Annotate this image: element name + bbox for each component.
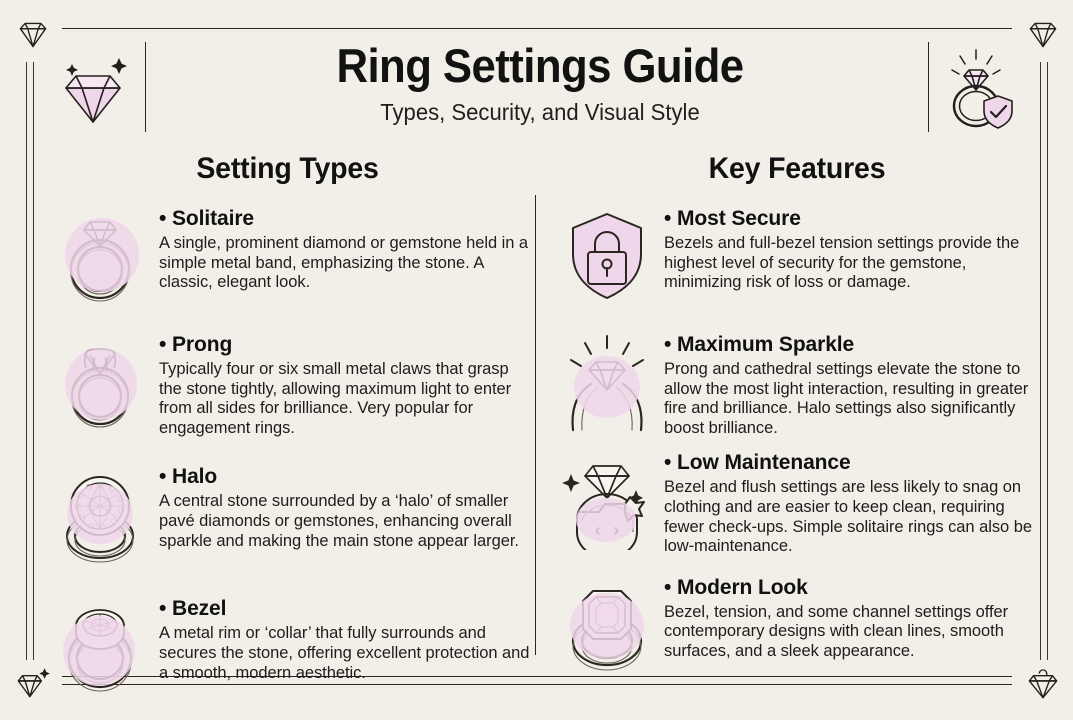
header: Ring Settings Guide Types, Security, and… bbox=[40, 36, 1030, 136]
page-subtitle: Types, Security, and Visual Style bbox=[175, 96, 905, 128]
frame-line-top bbox=[62, 28, 1012, 29]
ring-with-shield-check-icon bbox=[940, 44, 1030, 130]
list-item-text: • Prong Typically four or six small meta… bbox=[155, 328, 530, 438]
column-key-features: Key Features • Most Secure Bezels and fu… bbox=[552, 150, 1042, 679]
list-item-body: Bezel, tension, and some channel setting… bbox=[664, 603, 1042, 662]
list-item-text: • Halo A central stone surrounded by a ‘… bbox=[155, 460, 530, 551]
bullet-glyph: • bbox=[159, 597, 166, 620]
list-item-text: • Bezel A metal rim or ‘collar’ that ful… bbox=[155, 592, 530, 683]
column-setting-types: Setting Types bbox=[45, 150, 530, 706]
bullet-glyph: • bbox=[159, 465, 166, 488]
shield-lock-icon bbox=[552, 202, 662, 310]
solitaire-ring-icon bbox=[45, 202, 155, 310]
bullet-glyph: • bbox=[159, 333, 166, 356]
sparkling-ring-icon bbox=[552, 328, 662, 436]
frame-line-right-outer bbox=[1047, 62, 1048, 660]
list-item: • Bezel A metal rim or ‘collar’ that ful… bbox=[45, 592, 530, 700]
list-item-text: • Low Maintenance Bezel and flush settin… bbox=[662, 446, 1042, 556]
frame-line-left-inner bbox=[33, 62, 34, 660]
list-item: • Most Secure Bezels and full-bezel tens… bbox=[552, 202, 1042, 310]
list-item-title: • Prong bbox=[159, 332, 530, 358]
diamond-gem-sparkle-icon bbox=[48, 44, 138, 130]
frame-line-left-outer bbox=[26, 62, 27, 660]
list-item-title: • Bezel bbox=[159, 596, 530, 622]
bullet-glyph: • bbox=[664, 333, 671, 356]
list-item-body: Bezels and full-bezel tension settings p… bbox=[664, 234, 1042, 293]
bullet-glyph: • bbox=[664, 576, 671, 599]
list-item-title: • Solitaire bbox=[159, 206, 530, 232]
list-item-title: • Low Maintenance bbox=[664, 450, 1042, 476]
infographic-page: Ring Settings Guide Types, Security, and… bbox=[0, 0, 1073, 720]
bullet-glyph: • bbox=[159, 207, 166, 230]
list-item-body: A central stone surrounded by a ‘halo’ o… bbox=[159, 492, 530, 551]
list-item: • Halo A central stone surrounded by a ‘… bbox=[45, 460, 530, 568]
list-item: • Maximum Sparkle Prong and cathedral se… bbox=[552, 328, 1042, 438]
prong-ring-icon bbox=[45, 328, 155, 436]
bezel-ring-icon bbox=[45, 592, 155, 700]
list-item-body: Prong and cathedral settings elevate the… bbox=[664, 360, 1042, 438]
header-titles: Ring Settings Guide Types, Security, and… bbox=[160, 36, 920, 128]
list-item-text: • Solitaire A single, prominent diamond … bbox=[155, 202, 530, 293]
header-divider-right bbox=[928, 42, 929, 132]
list-item-text: • Maximum Sparkle Prong and cathedral se… bbox=[662, 328, 1042, 438]
list-item: • Prong Typically four or six small meta… bbox=[45, 328, 530, 438]
bullet-glyph: • bbox=[664, 207, 671, 230]
list-item-body: Typically four or six small metal claws … bbox=[159, 360, 530, 438]
clean-ring-sparkle-icon bbox=[552, 446, 662, 554]
list-item-text: • Modern Look Bezel, tension, and some c… bbox=[662, 571, 1042, 662]
list-item-text: • Most Secure Bezels and full-bezel tens… bbox=[662, 202, 1042, 293]
list-item-title: • Halo bbox=[159, 464, 530, 490]
list-item-body: A metal rim or ‘collar’ that fully surro… bbox=[159, 624, 530, 683]
halo-ring-icon bbox=[45, 460, 155, 568]
list-item-title: • Most Secure bbox=[664, 206, 1042, 232]
list-item-body: Bezel and flush settings are less likely… bbox=[664, 478, 1042, 556]
list-item-title: • Maximum Sparkle bbox=[664, 332, 1042, 358]
list-item: • Solitaire A single, prominent diamond … bbox=[45, 202, 530, 310]
emerald-cut-ring-icon bbox=[552, 571, 662, 679]
column-divider bbox=[535, 195, 536, 655]
list-item: • Low Maintenance Bezel and flush settin… bbox=[552, 446, 1042, 556]
column-heading: Setting Types bbox=[57, 150, 518, 188]
list-item: • Modern Look Bezel, tension, and some c… bbox=[552, 571, 1042, 679]
header-divider-left bbox=[145, 42, 146, 132]
list-item-body: A single, prominent diamond or gemstone … bbox=[159, 234, 530, 293]
bullet-glyph: • bbox=[664, 451, 671, 474]
page-title: Ring Settings Guide bbox=[187, 36, 894, 96]
list-item-title: • Modern Look bbox=[664, 575, 1042, 601]
column-heading: Key Features bbox=[564, 150, 1030, 188]
